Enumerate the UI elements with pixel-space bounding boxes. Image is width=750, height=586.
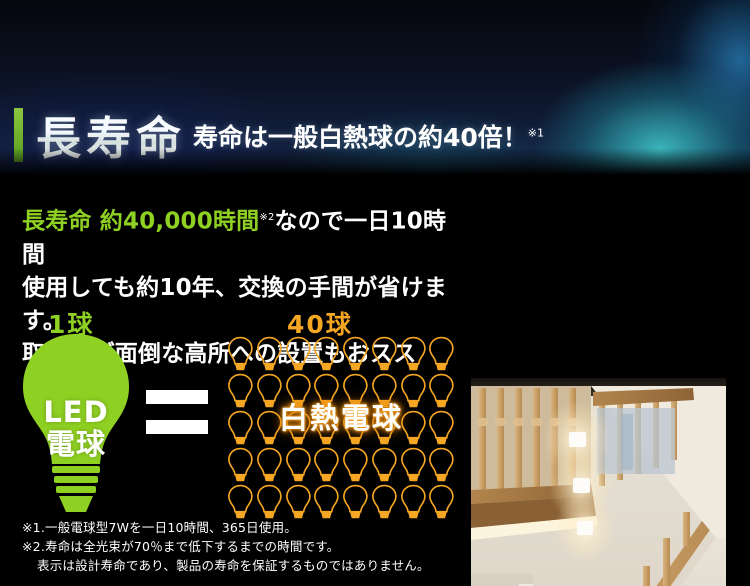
incandescent-bulb-icon <box>312 335 341 372</box>
incandescent-bulb-icon <box>255 483 284 520</box>
interior-staircase-photo <box>471 378 726 586</box>
footnote-2-continued: 表示は設計寿命であり、製品の寿命を保証するものではありません。 <box>22 556 452 575</box>
incandescent-bulb-icon <box>226 446 255 483</box>
incandescent-bulb-icon <box>284 335 313 372</box>
incandescent-bulb-icon <box>341 483 370 520</box>
led-bulb-label: LED 電球 <box>18 396 134 460</box>
banner-subtitle: 寿命は一般白熱球の約40倍！※1 <box>193 118 544 154</box>
led-longlife-promo-page: 長寿命 寿命は一般白熱球の約40倍！※1 長寿命 約40,000時間※2なので一… <box>0 0 750 586</box>
equals-sign <box>146 384 208 440</box>
incandescent-bulb-icon <box>255 446 284 483</box>
incandescent-bulb-icon <box>399 483 428 520</box>
incandescent-bulb-icon <box>312 446 341 483</box>
footnote-2: ※2.寿命は全光束が70％まで低下するまでの時間です。 <box>22 539 339 554</box>
incandescent-bulb-icon <box>226 483 255 520</box>
equals-bar-top <box>146 390 208 404</box>
incandescent-bulb-icon <box>399 446 428 483</box>
body-copy-footnote-marker: ※2 <box>259 212 274 223</box>
page-title: 長寿命 <box>36 102 186 167</box>
incandescent-bulb-icon <box>312 483 341 520</box>
equals-bar-bottom <box>146 420 208 434</box>
footnote-1: ※1.一般電球型7Wを一日10時間、365日使用。 <box>22 520 297 535</box>
footnotes: ※1.一般電球型7Wを一日10時間、365日使用。 ※2.寿命は全光束が70％ま… <box>22 518 452 575</box>
incandescent-bulb-icon <box>255 335 284 372</box>
incandescent-bulb-icon <box>284 483 313 520</box>
incandescent-bulb-label: 白熱電球 <box>226 395 456 437</box>
body-copy-highlight: 長寿命 約40,000時間 <box>22 209 259 235</box>
banner-subtitle-text: 寿命は一般白熱球の約40倍！ <box>193 123 528 152</box>
led-bulb-label-line1: LED <box>43 395 108 429</box>
incandescent-bulb-icon <box>427 335 456 372</box>
incandescent-bulb-icon <box>399 335 428 372</box>
incandescent-bulb-icon <box>370 335 399 372</box>
incandescent-bulb-icon <box>427 483 456 520</box>
banner-subtitle-footnote-marker: ※1 <box>528 127 544 140</box>
green-accent-bar <box>14 108 23 162</box>
incandescent-bulb-icon <box>226 335 255 372</box>
led-bulb-label-line2: 電球 <box>46 427 106 461</box>
incandescent-bulb-icon <box>341 335 370 372</box>
main-content-area: 長寿命 約40,000時間※2なので一日10時間 使用しても約10年、交換の手間… <box>0 174 750 586</box>
incandescent-bulb-icon <box>370 483 399 520</box>
incandescent-bulb-icon <box>341 446 370 483</box>
incandescent-bulb-icon <box>427 446 456 483</box>
incandescent-bulb-icon <box>284 446 313 483</box>
incandescent-bulb-icon <box>370 446 399 483</box>
header-banner: 長寿命 寿命は一般白熱球の約40倍！※1 <box>0 0 750 174</box>
